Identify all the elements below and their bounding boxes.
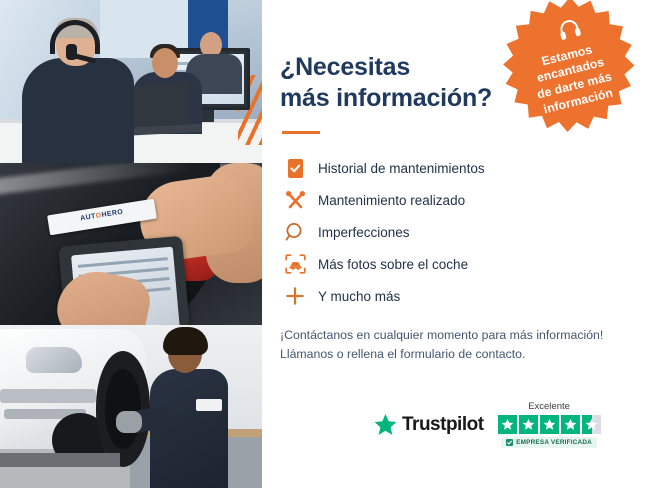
photo-workshop-tyre-check [0, 325, 262, 488]
trustpilot-widget[interactable]: Trustpilot Excelente [374, 401, 601, 448]
trustpilot-wordmark: Trustpilot [402, 414, 484, 436]
monitor-stand [200, 110, 214, 122]
car-lift-arm [0, 453, 120, 467]
feature-label: Y mucho más [318, 289, 400, 304]
magnifier-icon [280, 219, 310, 245]
trustpilot-rating: Excelente [498, 401, 601, 448]
checklist-document-icon [280, 155, 310, 181]
feature-label: Imperfecciones [318, 225, 410, 240]
agent-two-head [152, 48, 178, 78]
car-grille-upper [0, 389, 96, 403]
uniform-logo-patch [196, 399, 222, 411]
wrench-screwdriver-icon [280, 187, 310, 213]
mechanic-glove [116, 411, 142, 433]
title-divider [282, 131, 320, 134]
star-filled [561, 415, 580, 434]
photo-car-inspection: AUTOHERO [0, 163, 262, 325]
star-filled [540, 415, 559, 434]
verified-business-badge: EMPRESA VERIFICADA [501, 437, 597, 448]
car-scan-photo-icon [280, 251, 310, 277]
information-banner: AUTOHERO [0, 0, 650, 488]
feature-label: Mantenimiento realizado [318, 193, 465, 208]
feature-item: Más fotos sobre el coche [280, 248, 650, 280]
feature-item: Imperfecciones [280, 216, 650, 248]
verified-label: EMPRESA VERIFICADA [516, 439, 592, 446]
contact-line-1: ¡Contáctanos en cualquier momento para m… [280, 328, 603, 342]
star-filled [519, 415, 538, 434]
feature-label: Historial de mantenimientos [318, 161, 485, 176]
contact-line-2: Llámanos o rellena el formulario de cont… [280, 347, 525, 361]
star-half [582, 415, 601, 434]
trustpilot-logo[interactable]: Trustpilot [374, 414, 484, 436]
plus-icon [280, 283, 310, 309]
mechanic-hair [163, 327, 208, 355]
laptop-screen [128, 81, 190, 132]
feature-item: Mantenimiento realizado [280, 184, 650, 216]
star-rating [498, 415, 601, 434]
agent-one-body [22, 58, 134, 163]
trustpilot-star-icon [374, 414, 397, 436]
page-title-line-1: ¿Necesitas [280, 53, 410, 81]
contact-text: ¡Contáctanos en cualquier momento para m… [280, 326, 650, 364]
car-headlight [26, 347, 82, 373]
tyre-tread [105, 369, 141, 449]
verified-check-icon [506, 439, 513, 446]
support-badge: Estamos encantados de darte más informac… [497, 0, 643, 141]
feature-item: Y mucho más [280, 280, 650, 312]
star-filled [498, 415, 517, 434]
rating-label: Excelente [528, 401, 570, 412]
photo-collage: AUTOHERO [0, 0, 262, 488]
feature-label: Más fotos sobre el coche [318, 257, 468, 272]
feature-list: Historial de mantenimientos Mantenimient… [280, 152, 650, 312]
content-panel: ¿Necesitas más información? Estamos enca… [262, 0, 650, 488]
feature-item: Historial de mantenimientos [280, 152, 650, 184]
photo-call-center [0, 0, 262, 163]
page-title-line-2: más información? [280, 84, 492, 112]
